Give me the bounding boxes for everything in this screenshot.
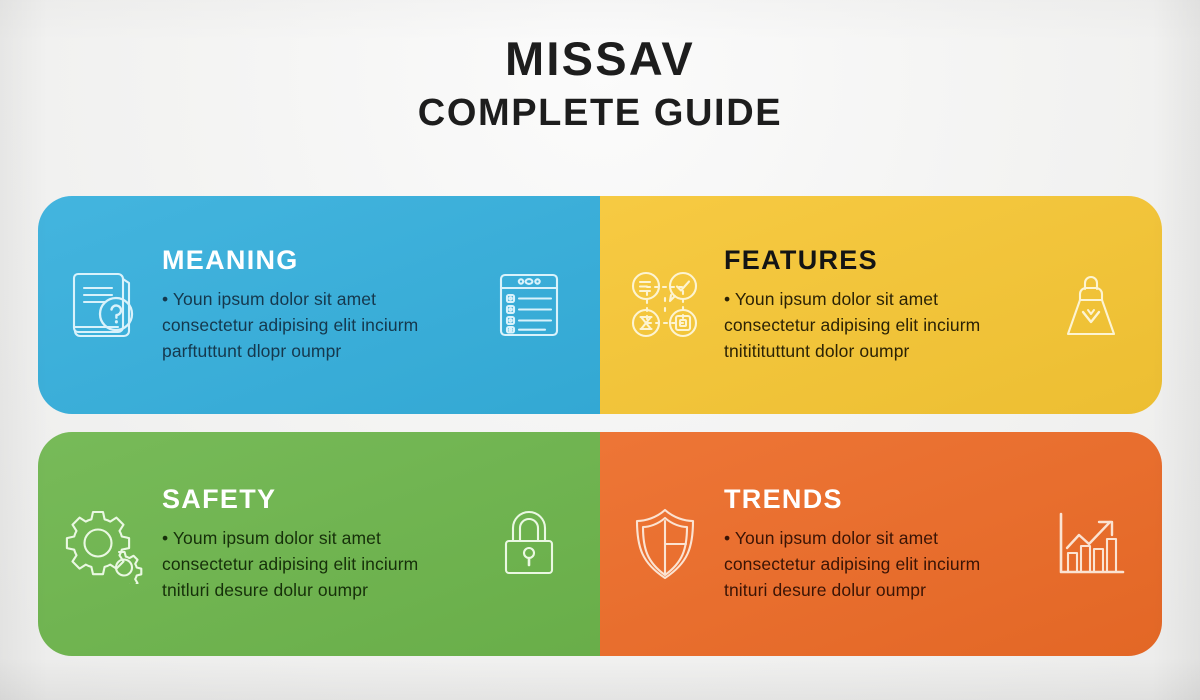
panel-body-features: FEATURES • Youn ipsum dolor sit amet con… xyxy=(724,245,1026,365)
panel-heading-features: FEATURES xyxy=(724,245,1022,276)
panel-body-trends: TRENDS • Youn ipsum dolor sit amet conse… xyxy=(724,484,1026,604)
panel-heading-safety: SAFETY xyxy=(162,484,460,515)
browser-list-icon xyxy=(464,269,594,341)
page-title: MISSAV xyxy=(505,34,695,83)
panel-text-trends: • Youn ipsum dolor sit amet consectetur … xyxy=(724,526,982,604)
page-subtitle: COMPLETE GUIDE xyxy=(418,93,782,135)
book-question-icon xyxy=(44,266,162,344)
panel-trends[interactable]: TRENDS • Youn ipsum dolor sit amet conse… xyxy=(600,432,1162,656)
panel-heading-trends: TRENDS xyxy=(724,484,1022,515)
network-nodes-icon xyxy=(606,265,724,345)
panel-text-safety: • Youm ipsum dolor sit amet consectetur … xyxy=(162,526,420,604)
panel-grid: MEANING • Youn ipsum dolor sit amet cons… xyxy=(38,196,1162,656)
weight-icon xyxy=(1026,267,1156,343)
panel-meaning[interactable]: MEANING • Youn ipsum dolor sit amet cons… xyxy=(38,196,600,414)
shield-icon xyxy=(606,504,724,584)
panel-safety[interactable]: SAFETY • Youm ipsum dolor sit amet conse… xyxy=(38,432,600,656)
growth-chart-icon xyxy=(1026,508,1156,580)
panel-body-meaning: MEANING • Youn ipsum dolor sit amet cons… xyxy=(162,245,464,365)
padlock-icon xyxy=(464,508,594,580)
panel-body-safety: SAFETY • Youm ipsum dolor sit amet conse… xyxy=(162,484,464,604)
panel-text-meaning: • Youn ipsum dolor sit amet consectetur … xyxy=(162,287,420,365)
gears-icon xyxy=(44,504,162,584)
panel-text-features: • Youn ipsum dolor sit amet consectetur … xyxy=(724,287,982,365)
panel-heading-meaning: MEANING xyxy=(162,245,460,276)
panel-features[interactable]: FEATURES • Youn ipsum dolor sit amet con… xyxy=(600,196,1162,414)
page-header: MISSAV COMPLETE GUIDE xyxy=(0,0,1200,190)
